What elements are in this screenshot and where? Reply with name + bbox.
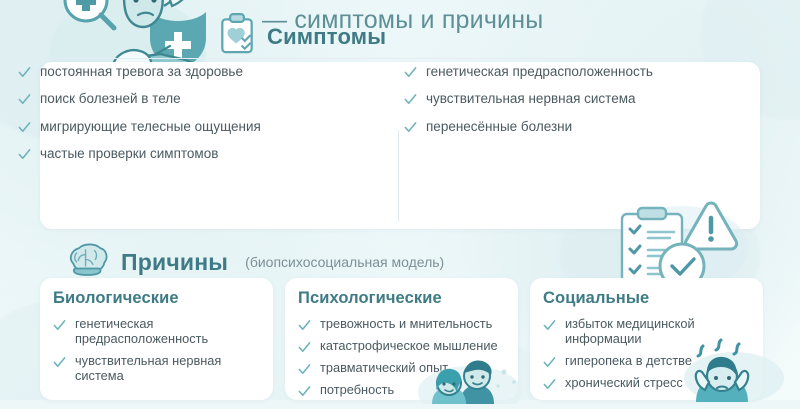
list-item: катастрофическое мышление <box>298 339 505 354</box>
check-icon <box>53 319 66 332</box>
causes-subheading: (биопсихосоциальная модель) <box>245 254 444 270</box>
list-item: частые проверки симптомов <box>18 146 368 162</box>
check-icon <box>18 148 31 161</box>
list-item: тревожность и мнительность <box>298 317 505 332</box>
card-title: Биологические <box>53 289 260 308</box>
brain-icon <box>66 243 110 281</box>
list-item: чувствительная нервная система <box>53 354 260 384</box>
list-item: постоянная тревога за здоровье <box>18 64 368 80</box>
check-icon <box>298 319 311 332</box>
check-icon <box>404 93 417 106</box>
cause-card-biological: Биологические генетическая предрасположе… <box>40 278 273 400</box>
list-item: генетическая предрасположенность <box>404 64 718 80</box>
symptoms-column-left: постоянная тревога за здоровье поиск бол… <box>18 64 368 174</box>
column-divider <box>398 130 399 222</box>
symptoms-heading: Симптомы <box>218 12 386 61</box>
list-item-label: генетическая предрасположенность <box>426 64 653 80</box>
list-item: поиск болезней в теле <box>18 91 368 107</box>
check-icon <box>543 319 556 332</box>
stressed-woman-icon <box>672 338 792 402</box>
list-item: чувствительная нервная система <box>404 91 718 107</box>
list-item-label: частые проверки симптомов <box>40 146 218 162</box>
couple-icon <box>398 358 538 404</box>
check-icon <box>298 363 311 376</box>
check-icon <box>543 356 556 369</box>
list-item-label: хронический стресс <box>565 376 683 391</box>
clipboard-heart-icon <box>218 12 256 61</box>
symptoms-heading-label: Симптомы <box>267 24 386 50</box>
causes-heading: Причины (биопсихосоциальная модель) <box>66 243 444 281</box>
check-icon <box>298 385 311 398</box>
card-title: Социальные <box>543 289 750 308</box>
check-icon <box>543 378 556 391</box>
check-icon <box>404 66 417 79</box>
list-item-label: чувствительная нервная система <box>426 91 636 107</box>
list-item-label: тревожность и мнительность <box>320 317 492 332</box>
check-icon <box>18 121 31 134</box>
list-item-label: генетическая предрасположенность <box>75 317 260 347</box>
causes-heading-label: Причины <box>121 249 228 276</box>
list-item-label: потребность <box>320 383 394 398</box>
list-item-label: катастрофическое мышление <box>320 339 498 354</box>
check-icon <box>404 121 417 134</box>
list-item: генетическая предрасположенность <box>53 317 260 347</box>
list-item: мигрирующие телесные ощущения <box>18 119 368 135</box>
symptoms-column-right: генетическая предрасположенность чувстви… <box>368 64 718 174</box>
header-divider <box>60 58 740 59</box>
list-item-label: мигрирующие телесные ощущения <box>40 119 261 135</box>
symptoms-columns: постоянная тревога за здоровье поиск бол… <box>18 64 718 174</box>
list-item: перенесённые болезни <box>404 119 718 135</box>
check-icon <box>53 356 66 369</box>
card-title: Психологические <box>298 289 505 308</box>
check-icon <box>18 66 31 79</box>
list-item-label: постоянная тревога за здоровье <box>40 64 243 80</box>
list-item-label: чувствительная нервная система <box>75 354 260 384</box>
list-item-label: поиск болезней в теле <box>40 91 181 107</box>
check-icon <box>18 93 31 106</box>
list-item-label: перенесённые болезни <box>426 119 572 135</box>
check-icon <box>298 341 311 354</box>
